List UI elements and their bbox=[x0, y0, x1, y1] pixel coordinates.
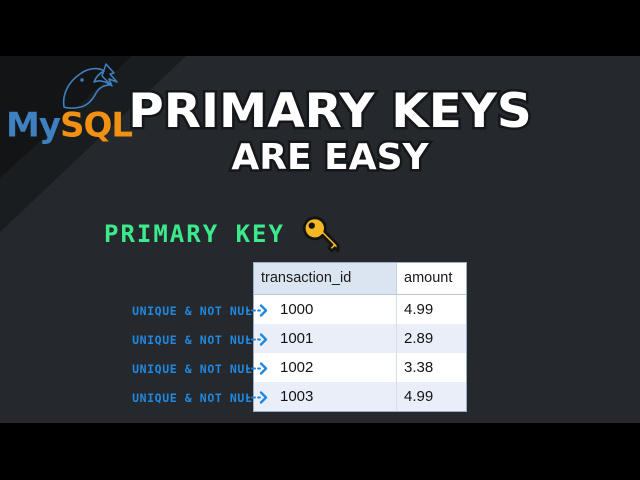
constraint-label: UNIQUE & NOT NULL bbox=[132, 304, 260, 318]
constraint-label: UNIQUE & NOT NULL bbox=[132, 391, 260, 405]
cell-amount: 4.99 bbox=[397, 295, 467, 325]
slide-canvas: MySQL® PRIMARY KEYS ARE EASY PRIMARY KEY… bbox=[0, 56, 640, 423]
arrow-connector bbox=[246, 393, 266, 403]
key-icon bbox=[299, 213, 341, 255]
mysql-wordmark-sql: SQL bbox=[60, 105, 132, 145]
constraint-label: UNIQUE & NOT NULL bbox=[132, 333, 260, 347]
screenshot-root: MySQL® PRIMARY KEYS ARE EASY PRIMARY KEY… bbox=[0, 0, 640, 480]
table-header-row: transaction_id amount bbox=[254, 263, 466, 295]
result-table: transaction_id amount 1000 4.99 1001 2.8… bbox=[253, 262, 467, 412]
arrow-connector bbox=[246, 364, 266, 374]
cell-amount: 4.99 bbox=[397, 382, 467, 411]
arrow-connector bbox=[246, 306, 266, 316]
column-header-amount[interactable]: amount bbox=[397, 263, 467, 295]
title-line-1: PRIMARY KEYS bbox=[124, 88, 536, 136]
primary-key-label: PRIMARY KEY bbox=[104, 220, 285, 248]
constraint-label-row: UNIQUE & NOT NULL bbox=[84, 354, 260, 383]
table-row[interactable]: 1000 4.99 bbox=[254, 295, 466, 325]
cell-amount: 2.89 bbox=[397, 324, 467, 353]
mysql-logo: MySQL® bbox=[6, 62, 126, 148]
column-header-transaction-id[interactable]: transaction_id bbox=[254, 263, 397, 295]
primary-key-caption: PRIMARY KEY bbox=[104, 213, 341, 255]
constraint-label-row: UNIQUE & NOT NULL bbox=[84, 325, 260, 354]
table-row[interactable]: 1003 4.99 bbox=[254, 382, 466, 411]
mysql-wordmark: MySQL® bbox=[6, 98, 128, 144]
arrow-connector-group bbox=[246, 296, 276, 416]
title-line-2: ARE EASY bbox=[130, 138, 530, 178]
cell-amount: 3.38 bbox=[397, 353, 467, 382]
constraint-label-row: UNIQUE & NOT NULL bbox=[84, 383, 260, 412]
table-row[interactable]: 1001 2.89 bbox=[254, 324, 466, 353]
table-row[interactable]: 1002 3.38 bbox=[254, 353, 466, 382]
page-title: PRIMARY KEYS ARE EASY bbox=[130, 88, 530, 178]
constraint-label-list: UNIQUE & NOT NULL UNIQUE & NOT NULL UNIQ… bbox=[84, 296, 260, 412]
arrow-connector bbox=[246, 335, 266, 345]
mysql-wordmark-my: My bbox=[6, 105, 60, 145]
constraint-label: UNIQUE & NOT NULL bbox=[132, 362, 260, 376]
constraint-label-row: UNIQUE & NOT NULL bbox=[84, 296, 260, 325]
